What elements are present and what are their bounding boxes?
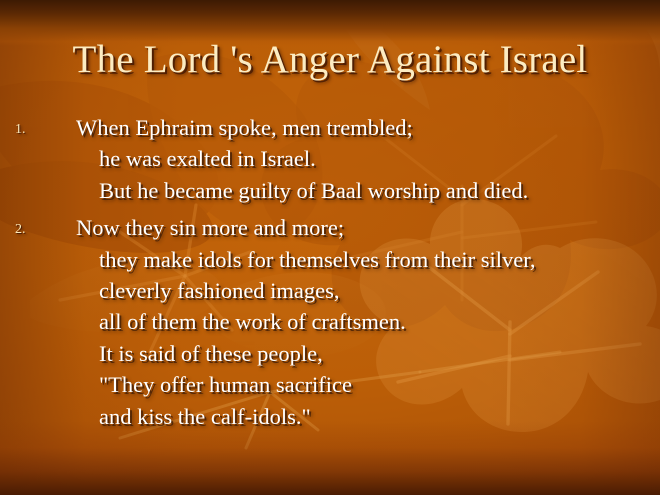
list-item: 2. Now they sin more and more; they make…	[0, 212, 660, 432]
list-item-text-1: When Ephraim spoke, men trembled; he was…	[76, 112, 660, 206]
slide-body-list: 1. When Ephraim spoke, men trembled; he …	[0, 112, 660, 432]
text-line: he was exalted in Israel.	[76, 143, 660, 174]
list-item-text-2: Now they sin more and more; they make id…	[76, 212, 660, 432]
text-line: "They offer human sacrifice	[76, 369, 660, 400]
text-line: cleverly fashioned images,	[76, 275, 660, 306]
bottom-edge-shading	[0, 421, 660, 495]
text-line: When Ephraim spoke, men trembled;	[76, 112, 660, 143]
text-line: and kiss the calf-idols."	[76, 401, 660, 432]
text-line: It is said of these people,	[76, 338, 660, 369]
list-marker-1: 1.	[15, 123, 26, 137]
text-line: Now they sin more and more;	[76, 212, 660, 243]
list-marker-2: 2.	[15, 223, 26, 237]
slide-title: The Lord 's Anger Against Israel	[0, 38, 660, 82]
text-line: But he became guilty of Baal worship and…	[76, 175, 660, 206]
text-line: they make idols for themselves from thei…	[76, 244, 660, 275]
list-item: 1. When Ephraim spoke, men trembled; he …	[0, 112, 660, 206]
text-line: all of them the work of craftsmen.	[76, 306, 660, 337]
presentation-slide: The Lord 's Anger Against Israel 1. When…	[0, 0, 660, 495]
